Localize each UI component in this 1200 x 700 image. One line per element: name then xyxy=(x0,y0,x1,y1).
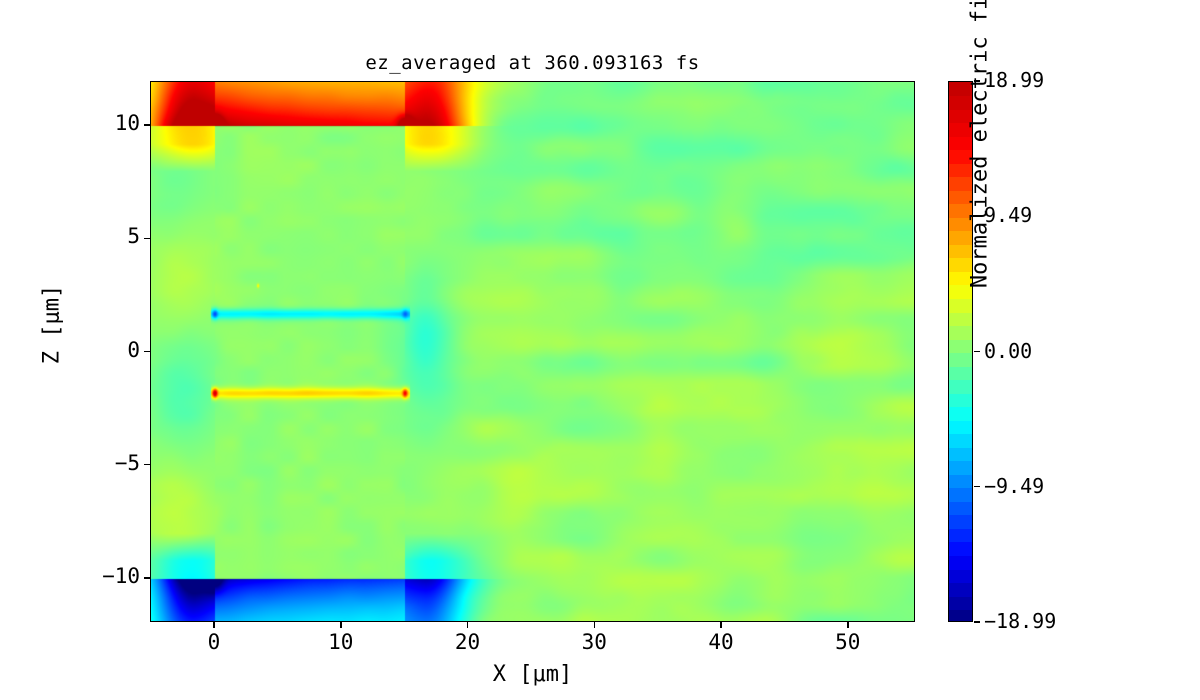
y-tick-label: 0 xyxy=(60,338,140,362)
x-tick-label: 50 xyxy=(808,630,888,654)
colorbar-segment xyxy=(949,447,972,461)
colorbar-segment xyxy=(949,353,972,367)
x-tick-label: 30 xyxy=(554,630,634,654)
field-canvas xyxy=(151,82,914,621)
x-tick-mark xyxy=(213,622,215,628)
colorbar-segment xyxy=(949,407,972,421)
heatmap-axes xyxy=(150,81,915,622)
colorbar-segment xyxy=(949,380,972,394)
colorbar-segment xyxy=(949,474,972,488)
x-tick-mark xyxy=(467,622,469,628)
colorbar-segment xyxy=(949,582,972,596)
colorbar-segment xyxy=(949,555,972,569)
colorbar-segment xyxy=(949,420,972,434)
y-tick-mark xyxy=(144,124,150,126)
colorbar-segment xyxy=(949,569,972,583)
y-tick-label: −10 xyxy=(60,564,140,588)
colorbar-segment xyxy=(949,339,972,353)
colorbar-tick-label: 0.00 xyxy=(984,339,1032,363)
x-tick-mark xyxy=(594,622,596,628)
colorbar-label: Normalized electric field xyxy=(968,0,993,333)
colorbar-tick-label: −9.49 xyxy=(984,474,1044,498)
colorbar-tick-mark xyxy=(974,351,980,353)
y-tick-mark xyxy=(144,464,150,466)
x-tick-mark xyxy=(720,622,722,628)
x-tick-label: 40 xyxy=(681,630,761,654)
colorbar-segment xyxy=(949,461,972,475)
colorbar-tick-label: −18.99 xyxy=(984,609,1056,633)
field-image xyxy=(151,82,914,621)
colorbar-segment xyxy=(949,393,972,407)
colorbar-segment xyxy=(949,434,972,448)
colorbar-tick-mark xyxy=(974,621,980,623)
y-tick-label: 10 xyxy=(60,111,140,135)
x-tick-mark xyxy=(847,622,849,628)
x-tick-label: 20 xyxy=(428,630,508,654)
colorbar-segment xyxy=(949,501,972,515)
colorbar-segment xyxy=(949,366,972,380)
y-tick-mark xyxy=(144,351,150,353)
x-axis-label: X [μm] xyxy=(150,662,915,687)
y-tick-label: −5 xyxy=(60,451,140,475)
colorbar-tick-label: 18.99 xyxy=(984,68,1044,92)
plot-title: ez_averaged at 360.093163 fs xyxy=(150,52,915,74)
x-tick-label: 10 xyxy=(301,630,381,654)
colorbar-tick-mark xyxy=(974,486,980,488)
colorbar-segment xyxy=(949,596,972,610)
colorbar-segment xyxy=(949,609,972,622)
y-tick-label: 5 xyxy=(60,224,140,248)
colorbar-segment xyxy=(949,515,972,529)
y-axis-label: Z [μm] xyxy=(40,225,65,425)
colorbar-segment xyxy=(949,488,972,502)
x-tick-label: 0 xyxy=(174,630,254,654)
colorbar-segment xyxy=(949,542,972,556)
colorbar-segment xyxy=(949,528,972,542)
x-tick-mark xyxy=(340,622,342,628)
y-tick-mark xyxy=(144,238,150,240)
y-tick-mark xyxy=(144,577,150,579)
